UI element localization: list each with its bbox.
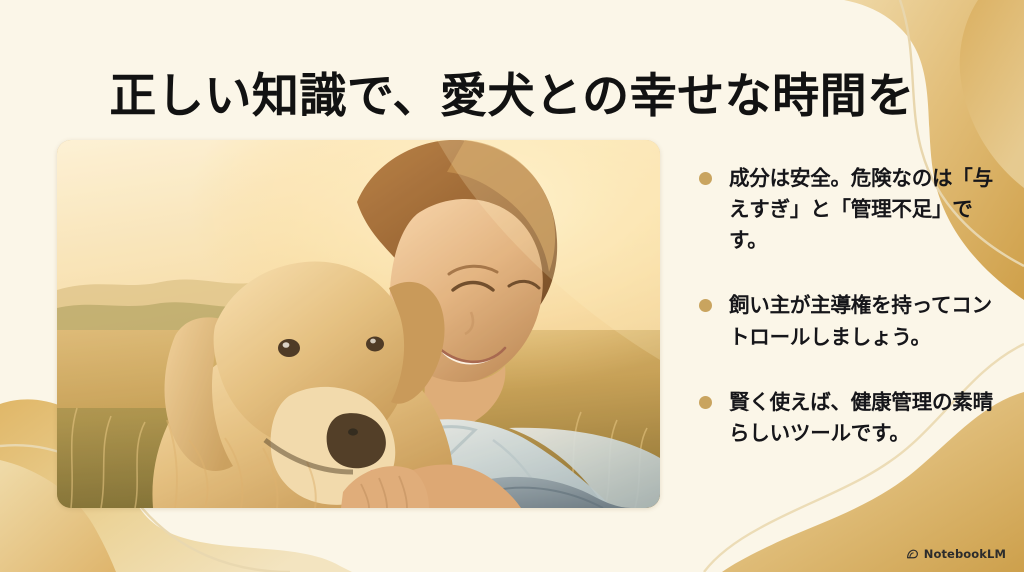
bullet-text: 成分は安全。危険なのは「与えすぎ」と「管理不足」です。 — [729, 166, 993, 252]
page-title: 正しい知識で、愛犬との幸せな時間を — [0, 69, 1024, 124]
list-item: 賢く使えば、健康管理の素晴らしいツールです。 — [697, 387, 1002, 449]
notebooklm-logo-icon — [906, 548, 919, 561]
list-item: 成分は安全。危険なのは「与えすぎ」と「管理不足」です。 — [697, 163, 1002, 256]
slide-canvas: 正しい知識で、愛犬との幸せな時間を — [0, 0, 1024, 572]
watermark-label: NotebookLM — [924, 547, 1006, 561]
bullet-dot-icon — [699, 396, 712, 409]
bullet-dot-icon — [699, 172, 712, 185]
list-item: 飼い主が主導権を持ってコントロールしましょう。 — [697, 290, 1002, 352]
bullet-text: 飼い主が主導権を持ってコントロールしましょう。 — [729, 293, 992, 348]
bullet-list: 成分は安全。危険なのは「与えすぎ」と「管理不足」です。 飼い主が主導権を持ってコ… — [697, 163, 1002, 449]
hero-photo-image — [57, 140, 660, 508]
bullet-dot-icon — [699, 299, 712, 312]
hero-photo — [57, 140, 660, 508]
bullet-text: 賢く使えば、健康管理の素晴らしいツールです。 — [729, 390, 993, 445]
notebooklm-watermark: NotebookLM — [906, 547, 1006, 561]
